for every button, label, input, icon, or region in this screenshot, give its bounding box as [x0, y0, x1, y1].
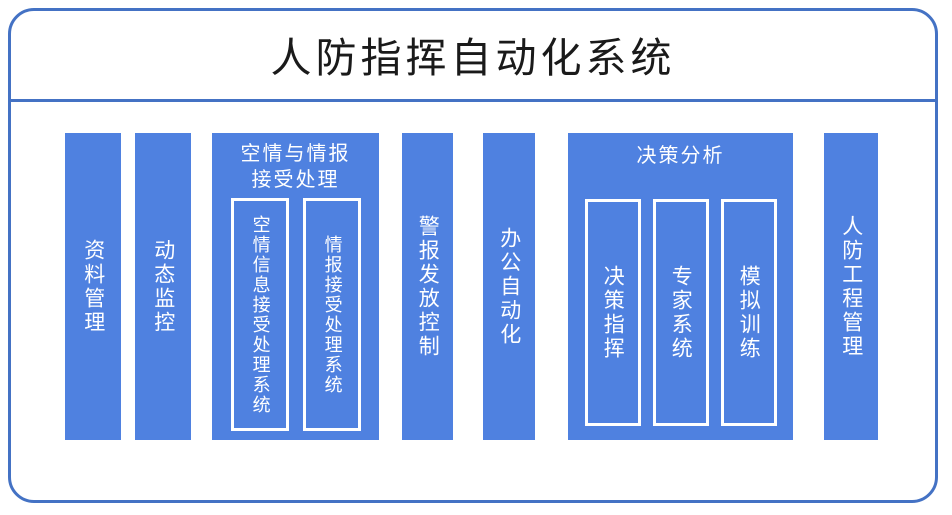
group-children-decision-analysis: 决策指挥 专家系统 模拟训练 — [568, 199, 793, 426]
submodule-simulation-training[interactable]: 模拟训练 — [721, 199, 777, 426]
submodule-intel-system[interactable]: 情报接受处理系统 — [303, 198, 361, 431]
module-alarm-control[interactable]: 警报发放控制 — [402, 133, 453, 440]
module-label: 资料管理 — [81, 239, 105, 335]
group-header-decision-analysis: 决策分析 — [568, 143, 793, 169]
submodule-label: 空情信息接受处理系统 — [249, 215, 269, 415]
module-group-air-situation-intel[interactable]: 空情与情报 接受处理 空情信息接受处理系统 情报接受处理系统 — [212, 133, 379, 440]
module-label: 警报发放控制 — [416, 215, 440, 359]
module-data-management[interactable]: 资料管理 — [65, 133, 121, 440]
module-civil-defense-engineering[interactable]: 人防工程管理 — [824, 133, 878, 440]
group-header-line-1: 决策分析 — [568, 143, 793, 169]
submodule-label: 模拟训练 — [737, 265, 761, 361]
submodule-decision-command[interactable]: 决策指挥 — [585, 199, 641, 426]
group-header-line-1: 空情与情报 — [212, 141, 379, 167]
module-label: 办公自动化 — [497, 227, 521, 347]
submodule-label: 决策指挥 — [601, 265, 625, 361]
group-header-line-2: 接受处理 — [212, 167, 379, 193]
modules-row: 资料管理 动态监控 空情与情报 接受处理 空情信息接受处理系统 情报接受处理系统 — [0, 0, 952, 515]
submodule-expert-system[interactable]: 专家系统 — [653, 199, 709, 426]
module-label: 动态监控 — [151, 239, 175, 335]
module-dynamic-monitoring[interactable]: 动态监控 — [135, 133, 191, 440]
module-office-automation[interactable]: 办公自动化 — [483, 133, 535, 440]
submodule-air-situation-system[interactable]: 空情信息接受处理系统 — [231, 198, 289, 431]
group-children-air-situation-intel: 空情信息接受处理系统 情报接受处理系统 — [212, 198, 379, 431]
civil-defense-system-diagram: 人防指挥自动化系统 资料管理 动态监控 空情与情报 接受处理 空情信息接受处理系… — [0, 0, 952, 515]
module-group-decision-analysis[interactable]: 决策分析 决策指挥 专家系统 模拟训练 — [568, 133, 793, 440]
group-header-air-situation-intel: 空情与情报 接受处理 — [212, 141, 379, 192]
module-label: 人防工程管理 — [839, 215, 863, 359]
submodule-label: 情报接受处理系统 — [321, 235, 341, 395]
submodule-label: 专家系统 — [669, 265, 693, 361]
